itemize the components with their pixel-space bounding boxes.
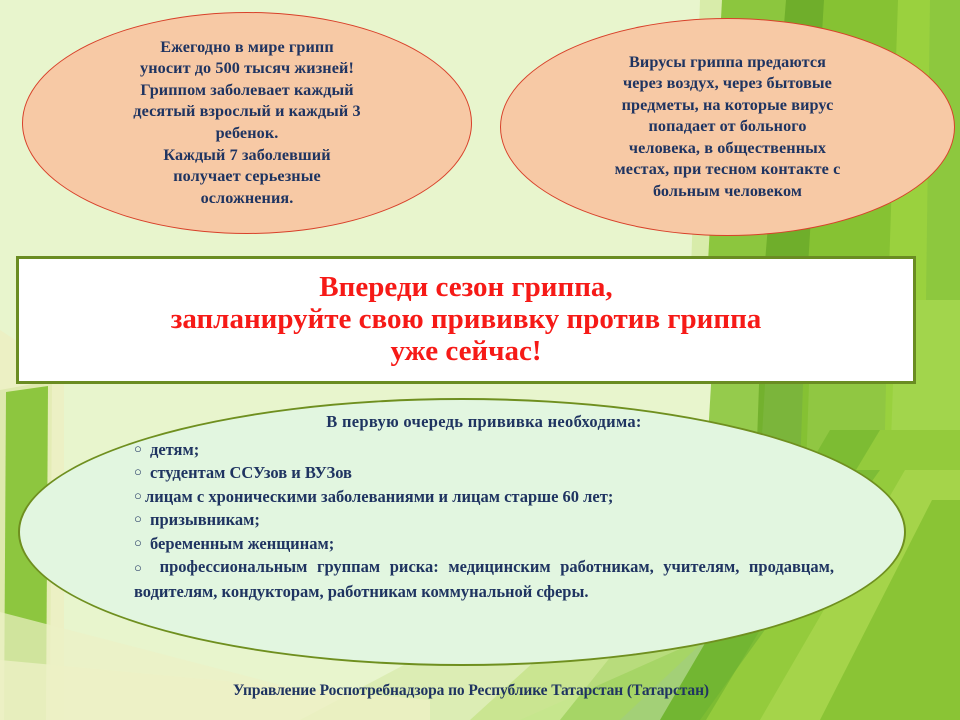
- list-item: ○ студентам ССУзов и ВУЗов: [134, 461, 834, 484]
- priority-groups-title: В первую очередь прививка необходима:: [134, 412, 834, 432]
- banner-line-3: уже сейчас!: [390, 336, 541, 368]
- transmission-line-6: местах, при тесном контакте с: [615, 160, 841, 178]
- priority-groups-content: В первую очередь прививка необходима: ○ …: [134, 412, 834, 603]
- list-item: ○ профессиональным группам риска: медици…: [134, 555, 834, 603]
- transmission-line-3: предметы, на которые вирус: [622, 96, 834, 114]
- stats-line-6: Каждый 7 заболевший: [163, 146, 330, 164]
- circle-bullet-icon: ○: [134, 557, 150, 580]
- ellipse-flu-statistics: Ежегодно в мире грипп уносит до 500 тыся…: [22, 12, 472, 234]
- call-to-action-banner: Впереди сезон гриппа, запланируйте свою …: [16, 256, 916, 384]
- circle-bullet-icon: ○: [134, 532, 150, 555]
- list-item-label: студентам ССУзов и ВУЗов: [150, 461, 352, 484]
- stats-line-7: получает серьезные: [173, 167, 321, 185]
- list-item-label: лицам с хроническими заболеваниями и лиц…: [145, 485, 613, 508]
- stats-line-8: осложнения.: [201, 189, 294, 207]
- transmission-line-7: больным человеком: [653, 182, 802, 200]
- slide-canvas: Ежегодно в мире грипп уносит до 500 тыся…: [0, 0, 960, 720]
- circle-bullet-icon: ○: [134, 438, 150, 461]
- list-item-label: детям;: [150, 438, 199, 461]
- footer-organization: Управление Роспотребнадзора по Республик…: [0, 682, 960, 700]
- stats-line-1: Ежегодно в мире грипп: [160, 38, 334, 56]
- banner-line-1: Впереди сезон гриппа,: [319, 272, 612, 304]
- circle-bullet-icon: ○: [134, 461, 150, 484]
- stats-line-4: десятый взрослый и каждый 3: [133, 102, 360, 120]
- stats-line-3: Гриппом заболевает каждый: [140, 81, 353, 99]
- list-item: ○ призывникам;: [134, 508, 834, 531]
- list-item: ○ детям;: [134, 438, 834, 461]
- list-item: ○ беременным женщинам;: [134, 532, 834, 555]
- stats-line-2: уносит до 500 тысяч жизней!: [140, 59, 354, 77]
- ellipse-transmission-info: Вирусы гриппа предаются через воздух, че…: [500, 18, 955, 236]
- transmission-text: Вирусы гриппа предаются через воздух, че…: [561, 52, 895, 203]
- circle-bullet-icon: ○: [134, 508, 150, 531]
- transmission-line-1: Вирусы гриппа предаются: [629, 53, 826, 71]
- circle-bullet-icon: ○: [134, 485, 145, 508]
- stats-line-5: ребенок.: [216, 124, 279, 142]
- list-item: ○ лицам с хроническими заболеваниями и л…: [134, 485, 834, 508]
- flu-statistics-text: Ежегодно в мире грипп уносит до 500 тыся…: [87, 37, 406, 209]
- list-item-label: профессиональным группам риска: медицинс…: [134, 557, 834, 601]
- transmission-line-5: человека, в общественных: [629, 139, 826, 157]
- transmission-line-2: через воздух, через бытовые: [623, 74, 832, 92]
- transmission-line-4: попадает от больного: [648, 117, 806, 135]
- list-item-label: призывникам;: [150, 508, 260, 531]
- banner-line-2: запланируйте свою прививку против гриппа: [171, 304, 762, 336]
- list-item-label: беременным женщинам;: [150, 532, 334, 555]
